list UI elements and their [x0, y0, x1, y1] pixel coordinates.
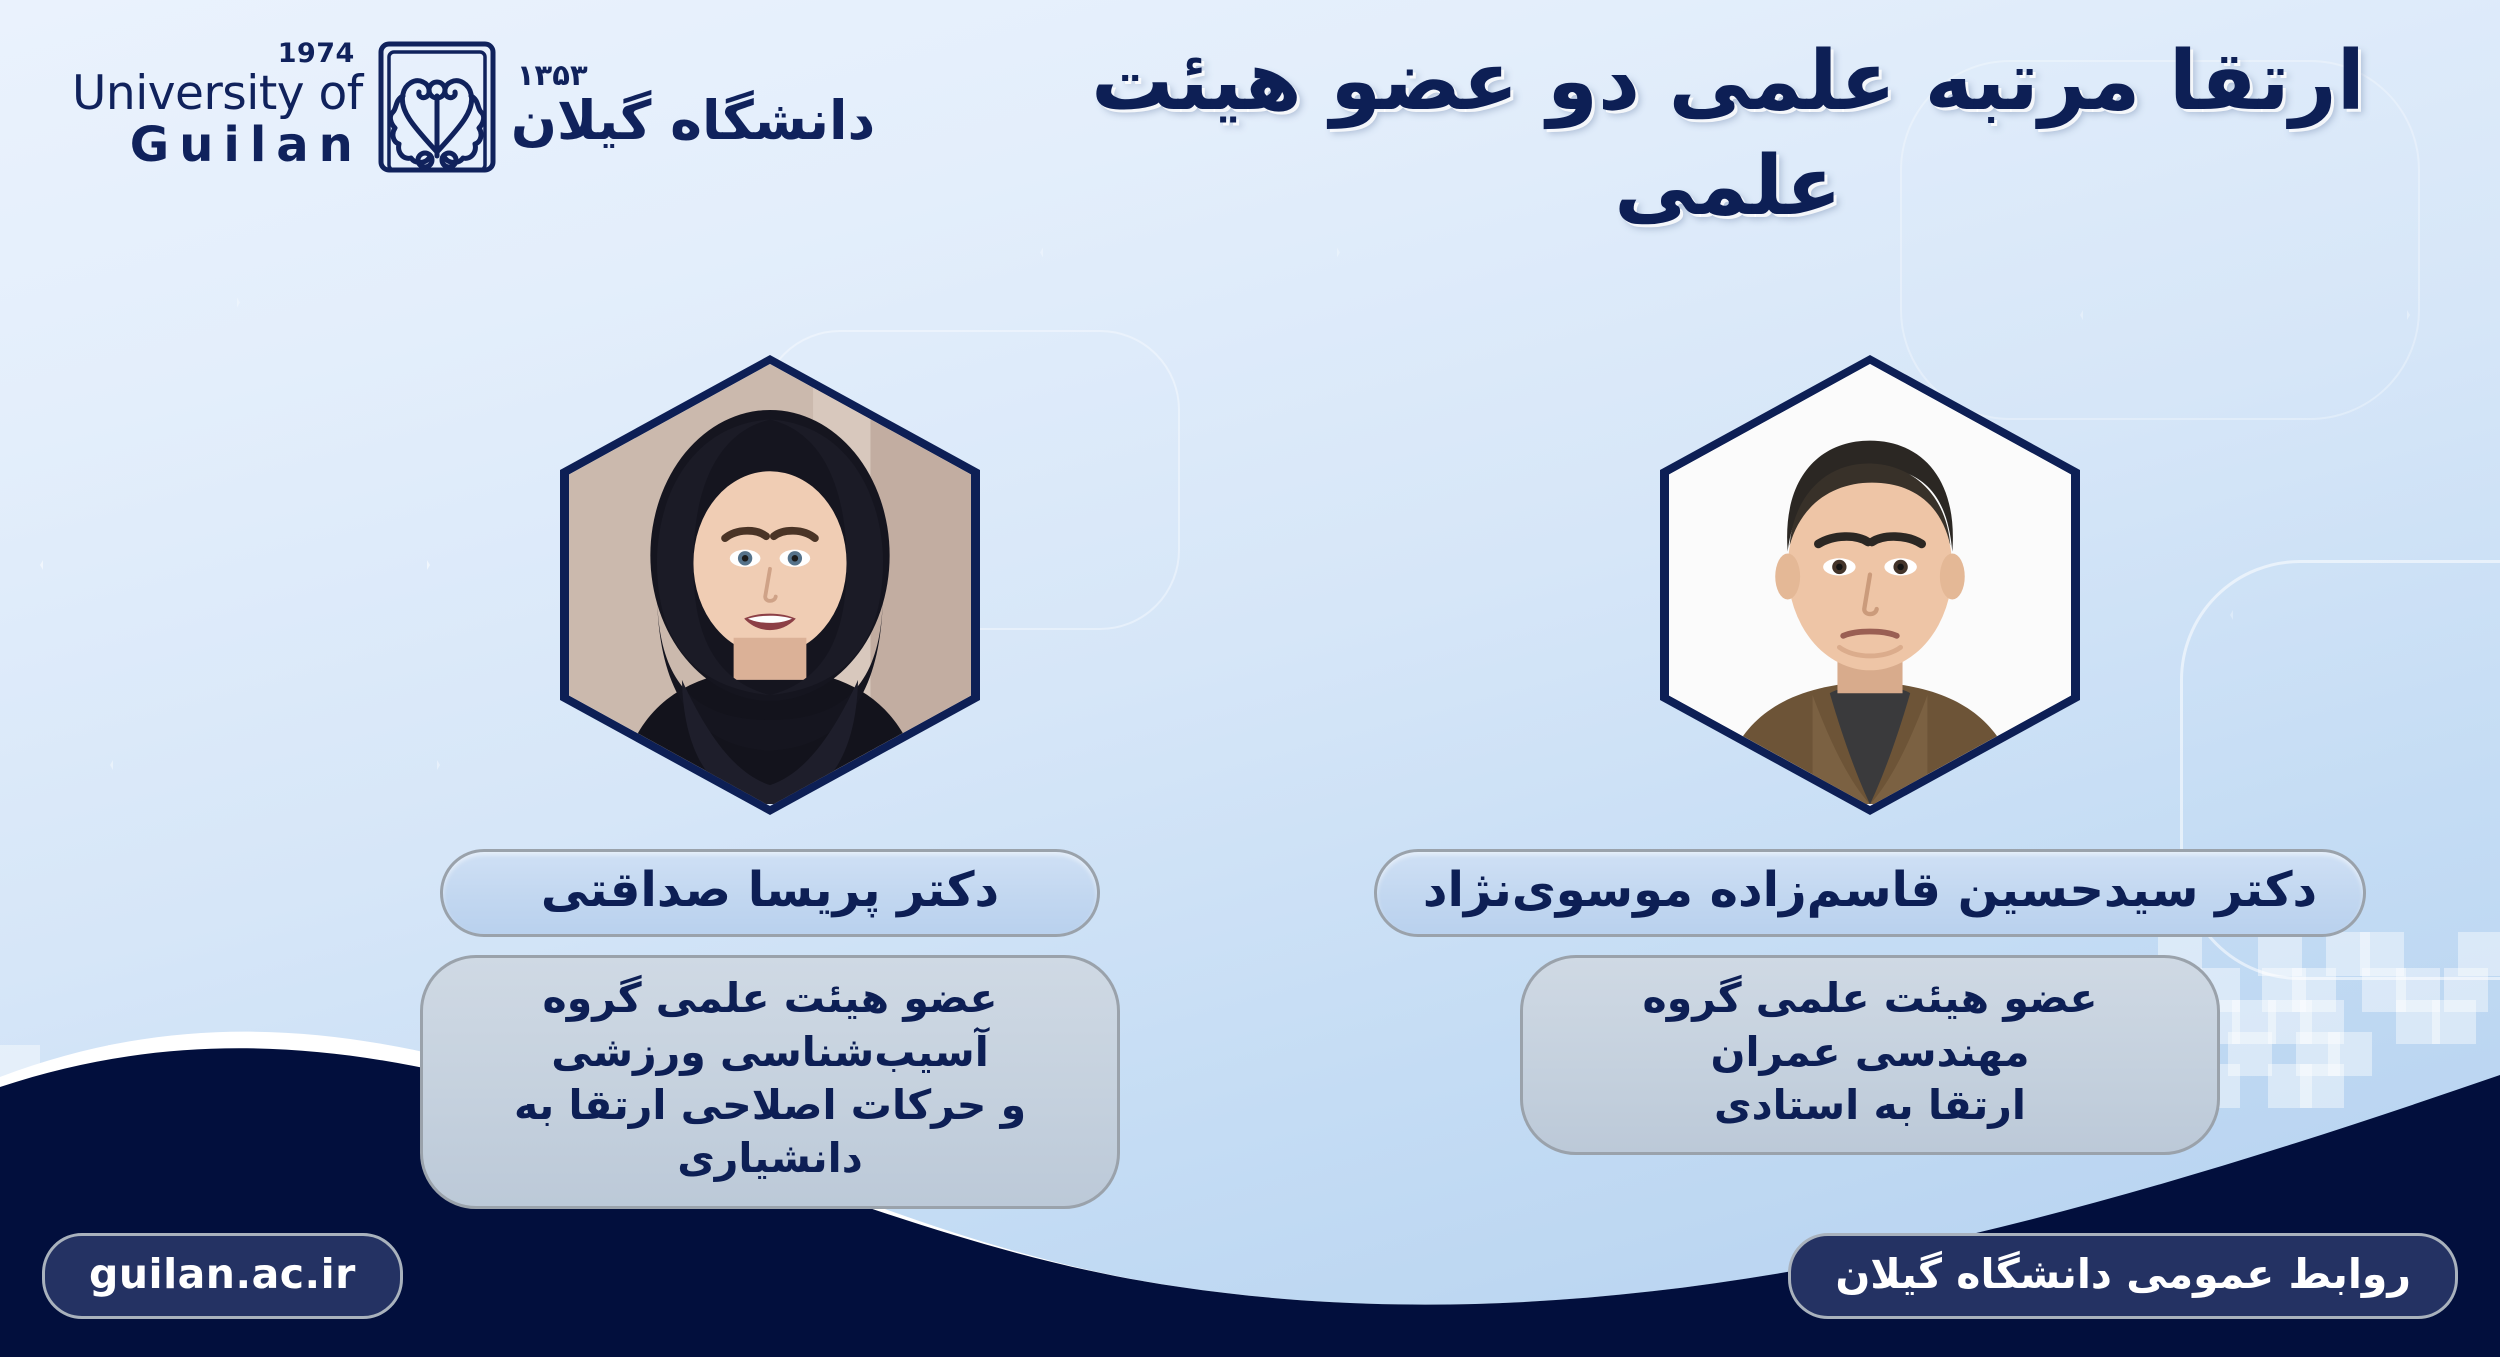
square-decor [2328, 1032, 2372, 1076]
square-decor [2362, 968, 2406, 1012]
square-decor [2444, 968, 2488, 1012]
avatar [569, 364, 971, 804]
person-role-line2: ارتقا به استادی [1559, 1079, 2181, 1132]
person-card-parisa-sedaghati: دکتر پریسا صداقتی عضو هیئت علمی گروه آسی… [370, 355, 1170, 1209]
hexagon-frame-inner [569, 364, 971, 806]
square-decor [180, 1187, 224, 1231]
guilan-university-emblem-icon [373, 34, 501, 174]
public-relations-badge: روابط عمومی دانشگاه گیلان [1788, 1233, 2458, 1319]
square-decor [42, 1093, 86, 1137]
logo-university-en: University of [72, 70, 363, 117]
square-decor [2296, 1032, 2340, 1076]
square-decor [2292, 968, 2336, 1012]
hexagon-outline-decor [2230, 470, 2500, 760]
square-decor [2300, 1000, 2344, 1044]
poster-canvas: 1974 University of Guilan ۱۳۵۳ دانشگاه گ… [0, 0, 2500, 1357]
square-decor [88, 1093, 132, 1137]
person-role-line1: عضو هیئت علمی گروه مهندسی عمران [1559, 972, 2181, 1079]
page-title: ارتقا مرتبه علمی دو عضو هیئت علمی [1028, 30, 2428, 240]
square-decor [134, 1140, 178, 1184]
square-decor [42, 1187, 86, 1231]
square-decor [108, 1045, 152, 1089]
square-decor [156, 1093, 200, 1137]
logo-persian-text: ۱۳۵۳ دانشگاه گیلان [511, 61, 875, 148]
square-decor [42, 1140, 86, 1184]
person-role-line1: عضو هیئت علمی گروه آسیب‌شناسی ورزشی [459, 972, 1081, 1079]
square-decor [2326, 932, 2370, 976]
hexagon-outline-decor [0, 170, 240, 435]
square-decor [2396, 968, 2440, 1012]
photo-frame [1660, 355, 2080, 815]
university-logo: 1974 University of Guilan ۱۳۵۳ دانشگاه گ… [72, 34, 875, 174]
square-decor [2360, 932, 2404, 976]
person-name-badge: دکتر پریسا صداقتی [440, 849, 1100, 937]
square-decor [2396, 1000, 2440, 1044]
logo-name-en: Guilan [130, 121, 363, 169]
square-decor [88, 1187, 132, 1231]
avatar [1669, 364, 2071, 804]
square-decor [176, 1045, 220, 1089]
square-decor [2268, 1064, 2312, 1108]
square-decor [0, 1093, 40, 1137]
square-decor [2432, 1000, 2476, 1044]
person-role-line2: و حرکات اصلاحی ارتقا به دانشیاری [459, 1079, 1081, 1186]
square-decor [2458, 932, 2500, 976]
square-decor [180, 1140, 224, 1184]
person-card-seyed-hossein-ghasemzadeh-mousavinejad: دکتر سیدحسین قاسم‌زاده موسوی‌نژاد عضو هی… [1470, 355, 2270, 1155]
square-decor [88, 1140, 132, 1184]
person-role-badge: عضو هیئت علمی گروه آسیب‌شناسی ورزشی و حر… [420, 955, 1120, 1208]
website-badge[interactable]: guilan.ac.ir [42, 1233, 403, 1319]
person-name-badge: دکتر سیدحسین قاسم‌زاده موسوی‌نژاد [1374, 849, 2366, 937]
photo-frame [560, 355, 980, 815]
logo-year-en: 1974 [278, 40, 355, 67]
hexagon-frame-inner [1669, 364, 2071, 806]
square-decor [2300, 1064, 2344, 1108]
logo-year-fa: ۱۳۵۳ [517, 61, 588, 90]
square-decor [2268, 1000, 2312, 1044]
square-decor [0, 1045, 40, 1089]
logo-english-text: 1974 University of Guilan [72, 40, 363, 169]
logo-name-fa: دانشگاه گیلان [511, 94, 875, 148]
person-role-badge: عضو هیئت علمی گروه مهندسی عمران ارتقا به… [1520, 955, 2220, 1155]
